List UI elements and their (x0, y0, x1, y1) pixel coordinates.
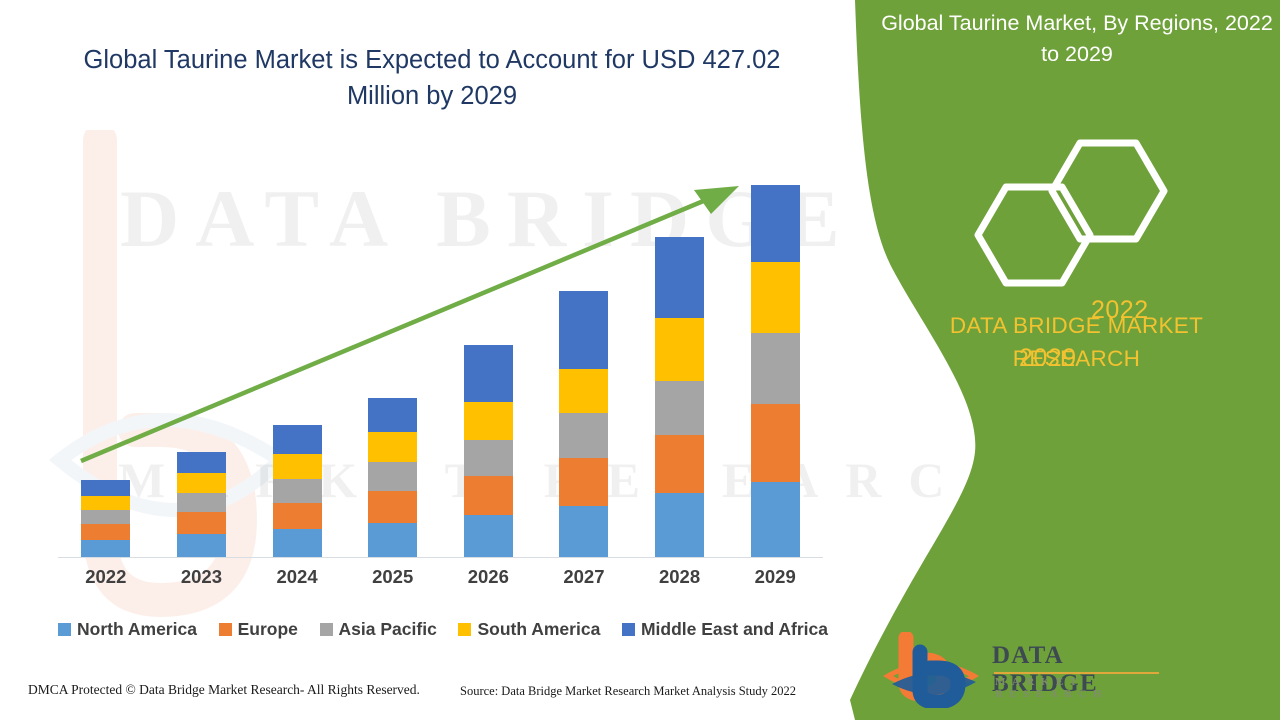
stacked-bar (177, 452, 226, 557)
legend-label: Europe (238, 619, 298, 640)
bar-segment (368, 462, 417, 491)
x-axis-label-2025: 2025 (345, 566, 441, 596)
bar-segment (751, 482, 800, 557)
bar-segment (751, 262, 800, 333)
bar-column-2023 (154, 150, 250, 557)
stacked-bar (655, 237, 704, 557)
panel-brand-line-1: DATA BRIDGE MARKET (884, 310, 1269, 343)
stacked-bar (751, 185, 800, 557)
bar-segment (368, 432, 417, 462)
panel-brand-line-2: RESEARCH (884, 343, 1269, 376)
bar-column-2028 (632, 150, 728, 557)
bar-segment (655, 237, 704, 318)
bar-column-2024 (249, 150, 345, 557)
bar-column-2025 (345, 150, 441, 557)
legend-swatch-icon (458, 623, 471, 636)
stacked-bar (464, 345, 513, 557)
bar-segment (655, 381, 704, 435)
bar-segment (273, 503, 322, 529)
bar-segment (559, 413, 608, 458)
chart-title: Global Taurine Market is Expected to Acc… (58, 42, 806, 114)
data-bridge-logo: DATA BRIDGE MARKET RESEARCH (882, 632, 1172, 708)
x-axis-label-2026: 2026 (441, 566, 537, 596)
bar-segment (464, 476, 513, 515)
x-axis-line (58, 557, 823, 558)
bar-segment (368, 491, 417, 523)
bar-column-2022 (58, 150, 154, 557)
bar-segment (464, 402, 513, 440)
infographic-page: DATA BRIDGE MARKET RESEARCH Global Tauri… (0, 0, 1280, 720)
bar-segment (273, 454, 322, 479)
panel-title: Global Taurine Market, By Regions, 2022 … (880, 8, 1274, 69)
bar-segment (464, 515, 513, 557)
bar-segment (464, 345, 513, 402)
x-axis-label-2022: 2022 (58, 566, 154, 596)
panel-content: Global Taurine Market, By Regions, 2022 … (860, 0, 1280, 720)
bar-segment (751, 333, 800, 404)
logo-tagline: MARKET RESEARCH (995, 676, 1172, 700)
legend-label: Middle East and Africa (641, 619, 828, 640)
bar-segment (273, 425, 322, 454)
legend-item-asia-pacific[interactable]: Asia Pacific (320, 619, 437, 640)
bar-segment (559, 369, 608, 413)
legend-swatch-icon (320, 623, 333, 636)
stacked-bar (81, 480, 130, 557)
bar-segment (273, 479, 322, 503)
bar-segment (81, 540, 130, 557)
hexagon-outlines-icon (950, 125, 1210, 290)
x-axis-label-2024: 2024 (249, 566, 345, 596)
bar-segment (177, 512, 226, 534)
bar-segment (81, 510, 130, 524)
bar-segment (751, 404, 800, 482)
footer-source: Source: Data Bridge Market Research Mark… (460, 684, 796, 699)
legend-item-north-america[interactable]: North America (58, 619, 197, 640)
bar-segment (81, 480, 130, 496)
legend-label: North America (77, 619, 197, 640)
footer-copyright: DMCA Protected © Data Bridge Market Rese… (28, 682, 420, 698)
bar-segment (177, 452, 226, 473)
bar-segment (177, 493, 226, 512)
chart-legend: North AmericaEuropeAsia PacificSouth Ame… (58, 615, 828, 643)
bar-column-2026 (441, 150, 537, 557)
x-axis-label-2027: 2027 (536, 566, 632, 596)
bar-segment (655, 435, 704, 493)
x-axis-labels: 20222023202420252026202720282029 (58, 566, 823, 596)
bar-segment (464, 440, 513, 476)
bar-segment (368, 523, 417, 557)
x-axis-label-2028: 2028 (632, 566, 728, 596)
stacked-bar (368, 398, 417, 557)
legend-label: Asia Pacific (339, 619, 437, 640)
bar-segment (655, 493, 704, 557)
bar-segment (177, 534, 226, 557)
bar-segment (559, 458, 608, 506)
bar-segment (177, 473, 226, 493)
bar-segment (81, 524, 130, 540)
legend-item-south-america[interactable]: South America (458, 619, 600, 640)
hexagon-group: 2022 2029 (950, 125, 1210, 290)
bar-column-2027 (536, 150, 632, 557)
legend-swatch-icon (58, 623, 71, 636)
bar-segment (559, 291, 608, 369)
legend-swatch-icon (622, 623, 635, 636)
bar-segment (273, 529, 322, 557)
x-axis-label-2029: 2029 (727, 566, 823, 596)
bar-segment (559, 506, 608, 557)
bar-segment (751, 185, 800, 262)
bar-column-2029 (727, 150, 823, 557)
legend-item-middle-east-and-africa[interactable]: Middle East and Africa (622, 619, 828, 640)
bar-chart-plot (58, 150, 823, 557)
panel-brand-text: DATA BRIDGE MARKET RESEARCH (884, 310, 1269, 375)
legend-item-europe[interactable]: Europe (219, 619, 298, 640)
legend-label: South America (477, 619, 600, 640)
bar-segment (655, 318, 704, 381)
bar-segment (81, 496, 130, 510)
x-axis-label-2023: 2023 (154, 566, 250, 596)
stacked-bar (559, 291, 608, 557)
legend-swatch-icon (219, 623, 232, 636)
stacked-bar (273, 425, 322, 557)
bar-segment (368, 398, 417, 432)
